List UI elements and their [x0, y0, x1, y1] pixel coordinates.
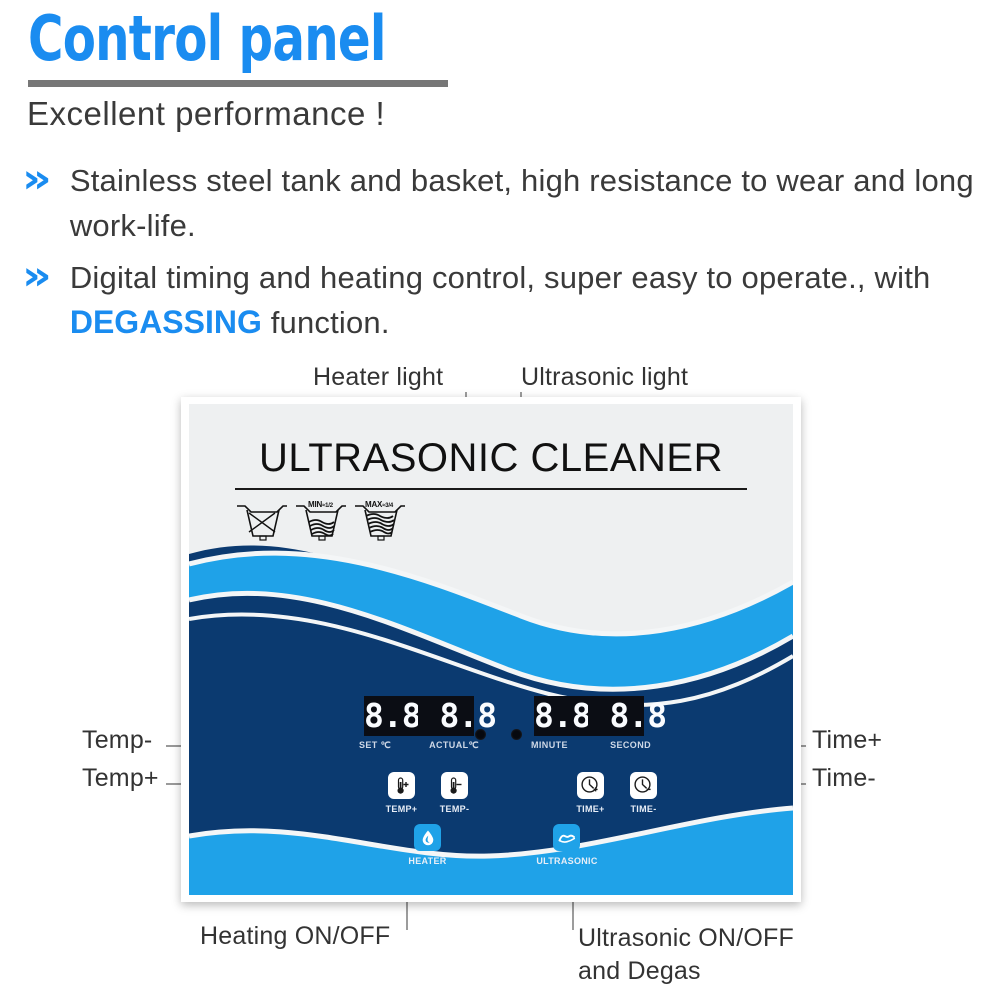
- header-section: Control panel Excellent performance ! » …: [0, 0, 1000, 345]
- double-chevron-icon: »: [22, 255, 52, 295]
- control-panel-image: ULTRASONIC CLEANER MIN≈1/2: [181, 397, 801, 902]
- tank-max-caption: MAX≈3/4: [365, 500, 393, 509]
- callout-time-minus: Time-: [812, 764, 876, 793]
- page-title: Control panel: [28, 8, 386, 70]
- thermometer-plus-icon: [392, 776, 412, 796]
- temp-minus-button[interactable]: [441, 772, 468, 799]
- temperature-display: 8.8 8.8: [364, 696, 474, 736]
- clock-plus-icon: [580, 775, 601, 796]
- feature-bullet-2: » Digital timing and heating control, su…: [22, 255, 987, 345]
- water-level-icons: MIN≈1/2 MAX≈3/4: [233, 498, 407, 542]
- time-minus-label: TIME-: [607, 804, 680, 814]
- thermometer-minus-icon: [445, 776, 465, 796]
- callout-temp-plus: Temp+: [82, 764, 159, 793]
- panel-face: ULTRASONIC CLEANER MIN≈1/2: [189, 404, 793, 895]
- callout-ultrasonic-light: Ultrasonic light: [521, 363, 688, 392]
- heater-button[interactable]: [414, 824, 441, 851]
- timer-display: 8.8 8.8: [534, 696, 644, 736]
- clock-minus-icon: [633, 775, 654, 796]
- temp-plus-button[interactable]: [388, 772, 415, 799]
- feature-bullet-2-text: Digital timing and heating control, supe…: [70, 255, 987, 345]
- ultrasonic-indicator-led: [511, 729, 522, 740]
- heater-indicator-led: [475, 729, 486, 740]
- ultrasonic-label: ULTRASONIC: [521, 856, 613, 866]
- temperature-display-labels: SET ℃ ACTUAL℃: [359, 740, 479, 751]
- tank-min-icon: MIN≈1/2: [292, 498, 348, 542]
- device-title: ULTRASONIC CLEANER: [189, 436, 793, 481]
- title-divider: [28, 80, 448, 87]
- display-divider: [588, 698, 590, 734]
- feature-bullet-1: » Stainless steel tank and basket, high …: [22, 158, 987, 248]
- callout-heating-onoff: Heating ON/OFF: [200, 922, 390, 951]
- heater-label: HEATER: [391, 856, 464, 866]
- temp-minus-label: TEMP-: [418, 804, 491, 814]
- water-drop-icon: [419, 829, 437, 847]
- tank-max-icon: MAX≈3/4: [351, 498, 407, 542]
- callout-heater-light: Heater light: [313, 363, 443, 392]
- time-minus-button[interactable]: [630, 772, 657, 799]
- time-plus-button[interactable]: [577, 772, 604, 799]
- actual-temp-label: ACTUAL℃: [429, 740, 479, 751]
- sound-wave-icon: [557, 829, 577, 847]
- set-temp-label: SET ℃: [359, 740, 391, 751]
- minute-label: MINUTE: [531, 740, 568, 750]
- callout-temp-minus: Temp-: [82, 726, 152, 755]
- callout-ultrasonic-onoff: Ultrasonic ON/OFF and Degas: [578, 922, 808, 988]
- timer-display-labels: MINUTE SECOND: [531, 740, 651, 750]
- tank-min-caption: MIN≈1/2: [308, 500, 333, 509]
- second-label: SECOND: [610, 740, 651, 750]
- callout-time-plus: Time+: [812, 726, 882, 755]
- display-divider: [418, 698, 420, 734]
- double-chevron-icon: »: [22, 158, 52, 198]
- degassing-emphasis: DEGASSING: [70, 304, 262, 340]
- subtitle: Excellent performance !: [27, 95, 385, 133]
- device-title-underline: [235, 488, 747, 490]
- feature-bullet-1-text: Stainless steel tank and basket, high re…: [70, 158, 987, 248]
- ultrasonic-button[interactable]: [553, 824, 580, 851]
- tank-empty-icon: [233, 498, 289, 542]
